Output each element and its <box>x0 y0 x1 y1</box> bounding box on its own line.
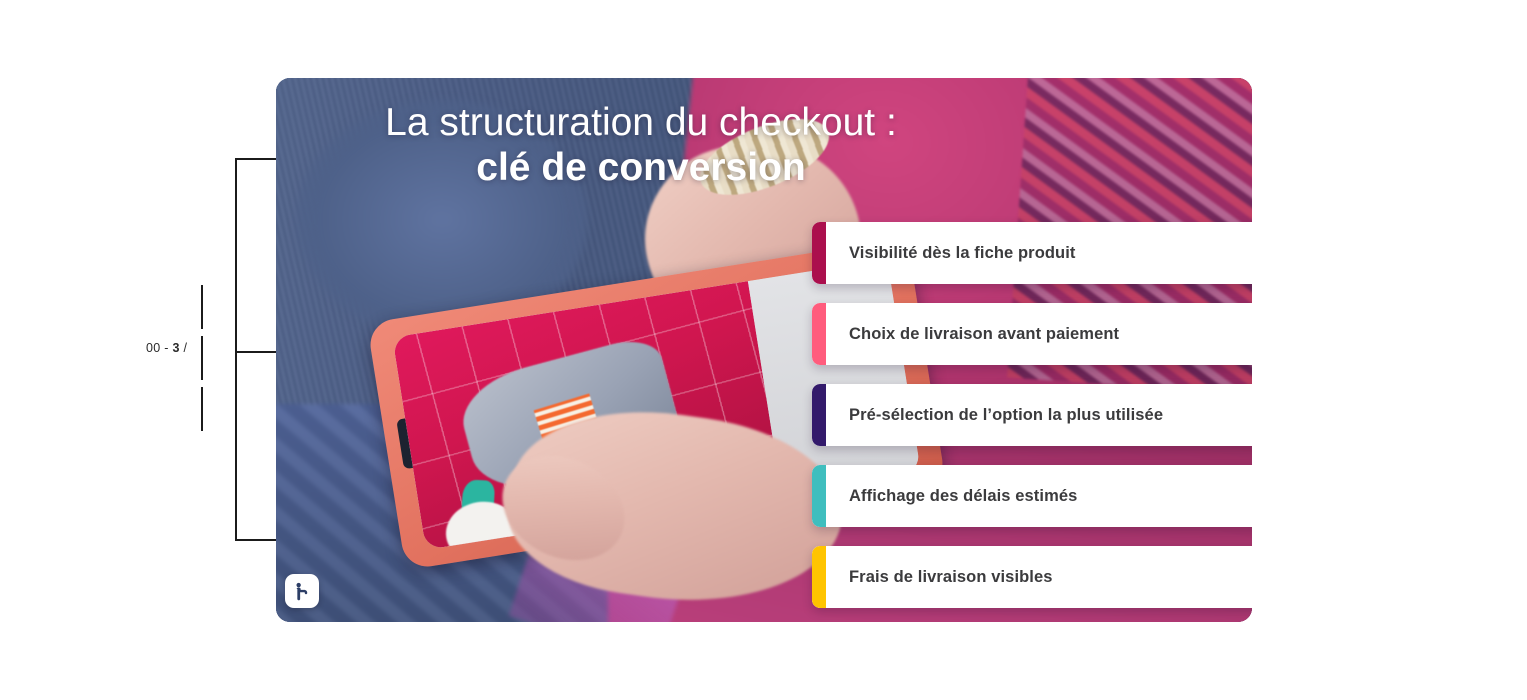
page-indicator-number: 3 <box>173 341 180 355</box>
card-accent-bar <box>812 465 826 527</box>
person-walking-logo-icon <box>292 581 313 602</box>
list-item[interactable]: Pré-sélection de l’option la plus utilis… <box>812 384 1252 446</box>
card-label: Pré-sélection de l’option la plus utilis… <box>826 406 1163 425</box>
bracket-arm-top <box>235 158 279 160</box>
title-line-emphasis: clé de conversion <box>296 145 986 190</box>
page-indicator: 00 - 3 / <box>146 341 187 355</box>
list-item[interactable]: Choix de livraison avant paiement <box>812 303 1252 365</box>
card-accent-bar <box>812 546 826 608</box>
bracket-stem <box>235 158 237 540</box>
bracket-arm-middle <box>235 351 279 353</box>
page-indicator-prefix: 00 - <box>146 341 173 355</box>
title-line-primary: La structuration du checkout : <box>296 100 986 145</box>
list-item[interactable]: Frais de livraison visibles <box>812 546 1252 608</box>
card-accent-bar <box>812 222 826 284</box>
navigation-rail: 00 - 3 / <box>0 0 276 700</box>
card-accent-bar <box>812 303 826 365</box>
card-accent-bar <box>812 384 826 446</box>
slide-canvas: 00 - 3 / <box>0 0 1527 700</box>
brand-logo[interactable] <box>285 574 319 608</box>
card-label: Choix de livraison avant paiement <box>826 325 1119 344</box>
bracket-arm-bottom <box>235 539 279 541</box>
card-label: Frais de livraison visibles <box>826 568 1053 587</box>
presentation-slide[interactable]: La structuration du checkout : clé de co… <box>276 78 1252 622</box>
list-item[interactable]: Visibilité dès la fiche produit <box>812 222 1252 284</box>
progress-tick-2[interactable] <box>201 336 203 380</box>
page-title: La structuration du checkout : clé de co… <box>296 100 986 190</box>
progress-tick-1[interactable] <box>201 285 203 329</box>
list-item[interactable]: Affichage des délais estimés <box>812 465 1252 527</box>
key-points-list: Visibilité dès la fiche produit Choix de… <box>812 222 1252 622</box>
progress-tick-3[interactable] <box>201 387 203 431</box>
page-indicator-suffix: / <box>180 341 188 355</box>
card-label: Affichage des délais estimés <box>826 487 1077 506</box>
card-label: Visibilité dès la fiche produit <box>826 244 1076 263</box>
